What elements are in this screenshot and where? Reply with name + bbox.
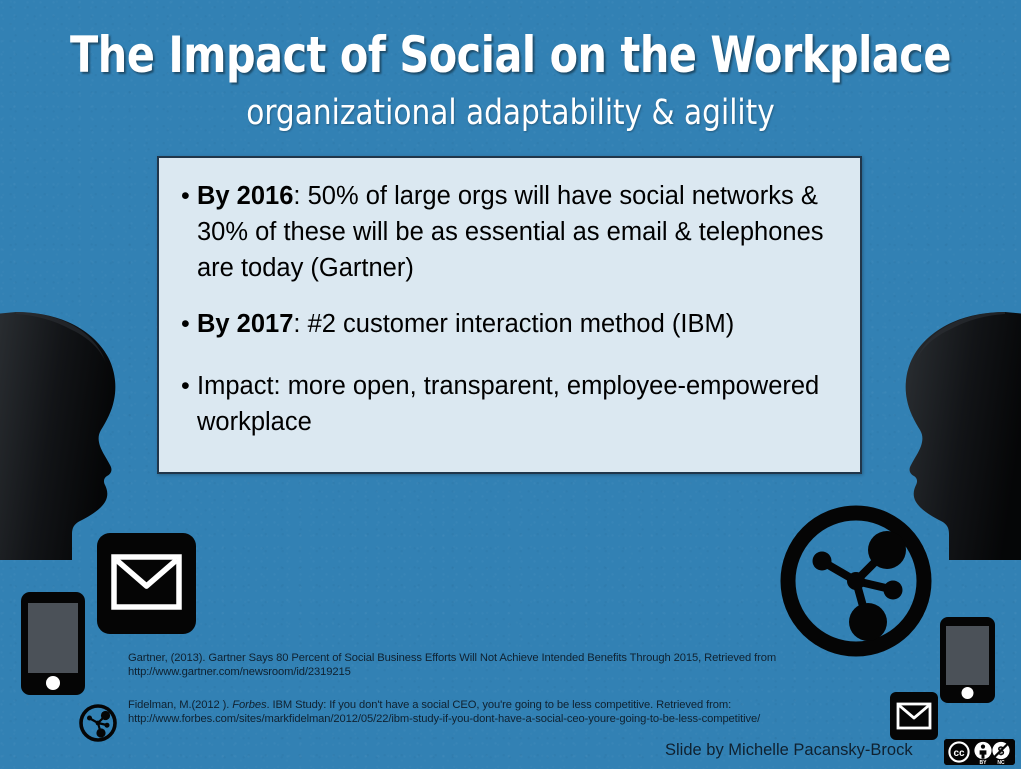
- bullet-item: • Impact: more open, transparent, employ…: [181, 368, 842, 440]
- content-box: • By 2016: 50% of large orgs will have s…: [157, 156, 862, 474]
- bullet-text: Impact: more open, transparent, employee…: [197, 368, 842, 440]
- bullet-rest: Impact: more open, transparent, employee…: [197, 372, 819, 436]
- slide-canvas: The Impact of Social on the Workplace or…: [0, 0, 1021, 769]
- slide-subtitle: organizational adaptability & agility: [31, 92, 991, 134]
- svg-text:NC: NC: [997, 760, 1005, 765]
- bullet-rest: : #2 customer interaction method (IBM): [293, 310, 734, 338]
- bullet-marker: •: [181, 368, 197, 404]
- citation-fidelman: Fidelman, M.(2012 ). Forbes. IBM Study: …: [128, 699, 833, 726]
- bullet-lead: By 2016: [197, 182, 293, 210]
- bullet-marker: •: [181, 306, 197, 342]
- bullet-lead: By 2017: [197, 310, 293, 338]
- bullet-item: • By 2016: 50% of large orgs will have s…: [181, 178, 842, 286]
- network-share-icon-large: [780, 505, 932, 662]
- network-share-icon-small: [79, 704, 117, 747]
- svg-text:cc: cc: [953, 748, 965, 759]
- citation-gartner: Gartner, (2013). Gartner Says 80 Percent…: [128, 652, 828, 679]
- bullet-text: By 2017: #2 customer interaction method …: [197, 306, 842, 342]
- envelope-icon-small: [890, 692, 938, 745]
- svg-text:BY: BY: [980, 760, 988, 765]
- creative-commons-badge[interactable]: cc BY $ NC: [944, 739, 1015, 765]
- slide-title: The Impact of Social on the Workplace: [41, 26, 980, 84]
- smartphone-icon-left: [21, 592, 85, 700]
- bullet-text: By 2016: 50% of large orgs will have soc…: [197, 178, 842, 286]
- attribution-text: Slide by Michelle Pacansky-Brock: [665, 740, 913, 760]
- bullet-item: • By 2017: #2 customer interaction metho…: [181, 306, 842, 342]
- envelope-icon-large: [97, 533, 196, 639]
- smartphone-icon-right: [940, 617, 995, 708]
- citation-fidelman-part1: Fidelman, M.(2012 ).: [128, 699, 232, 711]
- bullet-marker: •: [181, 178, 197, 214]
- face-profile-silhouette-icon-left: [0, 312, 134, 560]
- citation-fidelman-source: Forbes: [232, 699, 266, 711]
